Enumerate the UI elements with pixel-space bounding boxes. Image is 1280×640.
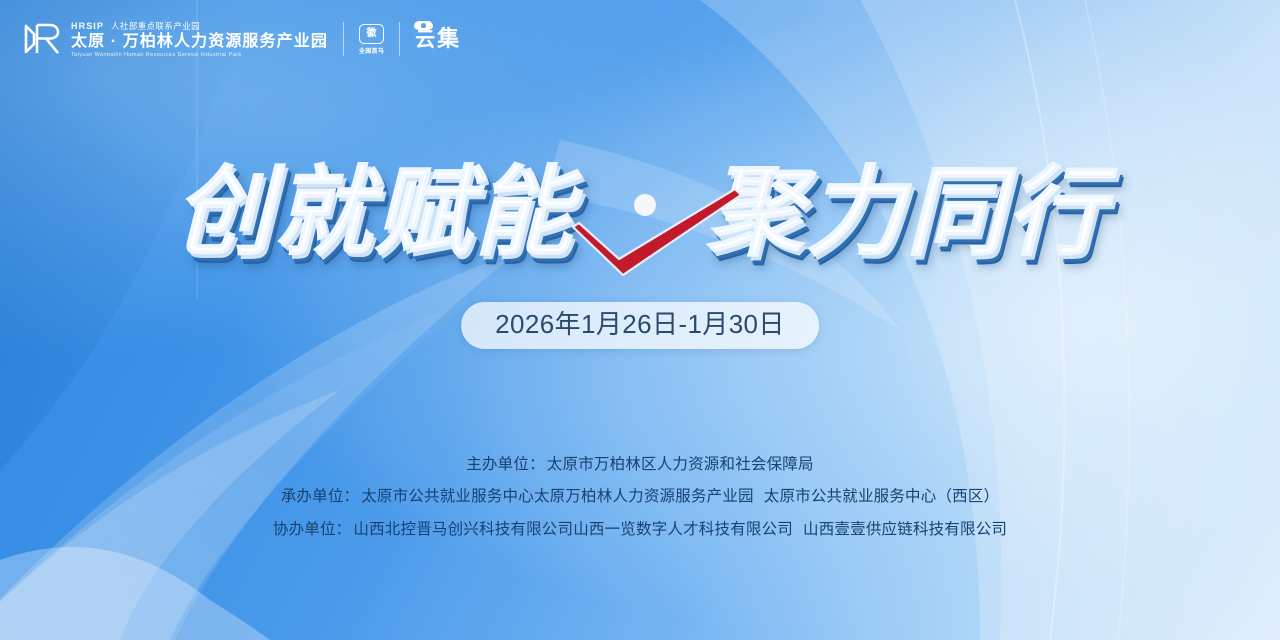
national-emblem-logo[interactable]: 徽 全国首马 bbox=[359, 24, 384, 55]
title-part-1: 创就赋能 bbox=[174, 164, 574, 262]
credit-line-host: 主办单位：太原市万柏林区人力资源和社会保障局 bbox=[466, 455, 813, 474]
yunji-partner-logo[interactable]: 云 集 bbox=[415, 28, 459, 50]
banner-header: HRSIP 人社部重点联系产业园 太原 · 万柏林人力资源服务产业园 Taiyu… bbox=[0, 0, 1280, 78]
credit-label-organizer: 承办单位： bbox=[281, 488, 360, 505]
credit-label-host: 主办单位： bbox=[466, 456, 545, 473]
title-part-2: 聚力同行 bbox=[706, 164, 1106, 262]
red-check-mark-icon bbox=[567, 183, 747, 279]
credit-line-coorganizer: 协办单位：山西北控晋马创兴科技有限公司山西一览数字人才科技有限公司山西壹壹供应链… bbox=[273, 520, 1007, 539]
credit-item: 太原市公共就业服务中心（西区） bbox=[764, 488, 1000, 505]
event-date-badge: 2026年1月26日-1月30日 bbox=[461, 302, 819, 349]
emblem-glyph: 徽 bbox=[367, 29, 377, 39]
logo-abbreviation: HRSIP bbox=[71, 21, 104, 31]
emblem-caption: 全国首马 bbox=[359, 46, 384, 55]
yunji-right-char: 集 bbox=[437, 28, 459, 50]
header-divider-2 bbox=[399, 22, 400, 56]
credit-item: 山西北控晋马创兴科技有限公司 bbox=[353, 521, 573, 538]
credit-item: 太原市公共就业服务中心 bbox=[361, 488, 534, 505]
event-date-text: 2026年1月26日-1月30日 bbox=[495, 309, 785, 339]
credit-item: 山西壹壹供应链科技有限公司 bbox=[803, 521, 1007, 538]
logo-name-en: Taiyuan Wanbailin Human Resources Servic… bbox=[71, 52, 328, 58]
event-banner: HRSIP 人社部重点联系产业园 太原 · 万柏林人力资源服务产业园 Taiyu… bbox=[0, 0, 1280, 640]
emblem-ring-icon: 徽 bbox=[359, 24, 384, 44]
park-logo[interactable]: HRSIP 人社部重点联系产业园 太原 · 万柏林人力资源服务产业园 Taiyu… bbox=[22, 19, 328, 59]
credit-line-organizer: 承办单位：太原市公共就业服务中心太原万柏林人力资源服务产业园太原市公共就业服务中… bbox=[281, 487, 1000, 506]
header-divider-1 bbox=[343, 22, 344, 56]
credit-item: 太原市万柏林区人力资源和社会保障局 bbox=[547, 456, 814, 473]
logo-tagline: 人社部重点联系产业园 bbox=[111, 20, 200, 32]
organizer-credits: 主办单位：太原市万柏林区人力资源和社会保障局 承办单位：太原市公共就业服务中心太… bbox=[0, 455, 1280, 539]
credit-item: 太原万柏林人力资源服务产业园 bbox=[534, 488, 754, 505]
cloud-icon bbox=[414, 21, 433, 30]
hrsip-monogram-icon bbox=[22, 19, 62, 59]
logo-name-cn: 太原 · 万柏林人力资源服务产业园 bbox=[71, 32, 328, 52]
yunji-left-char: 云 bbox=[415, 30, 435, 50]
credit-item: 山西一览数字人才科技有限公司 bbox=[573, 521, 793, 538]
credit-label-coorganizer: 协办单位： bbox=[273, 521, 352, 538]
